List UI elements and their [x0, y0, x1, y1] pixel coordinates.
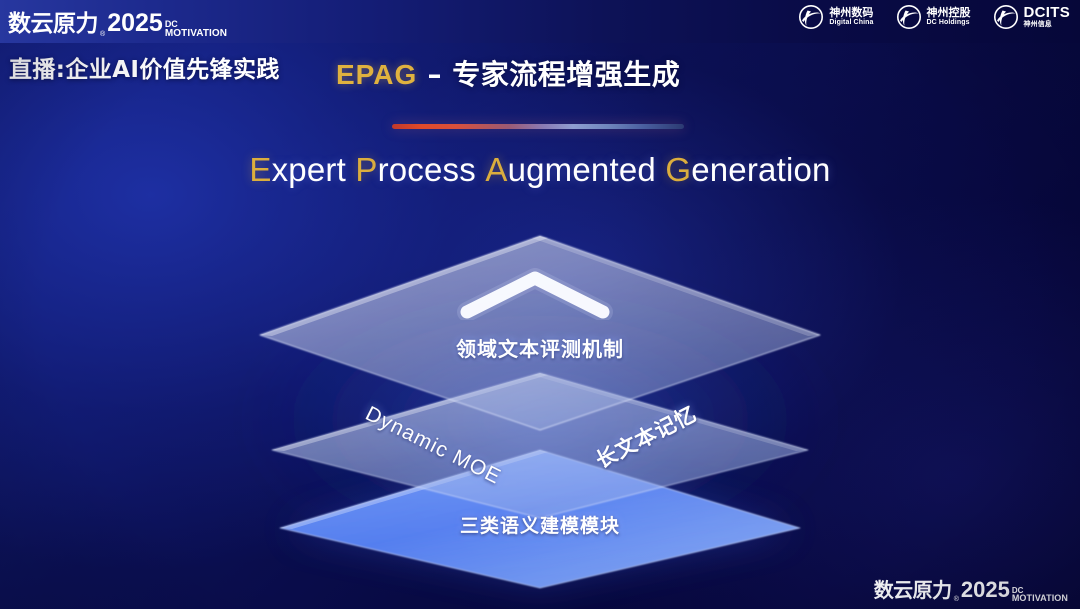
brand-logo-motivation: MOTIVATION [165, 29, 227, 39]
subtitle-word-1-cap: P [355, 151, 377, 188]
partner-name-en: Digital China [829, 19, 873, 26]
partner-name-cn: 神州控股 [927, 7, 971, 19]
subtitle-word-0-rest: xpert [272, 151, 346, 188]
partner-logo-dc-holdings: 神州控股 DC Holdings [896, 4, 971, 30]
slide-canvas: 数云原力® 2025 DC MOTIVATION 神州数码 Digital Ch… [0, 0, 1080, 609]
chevron-up-icon [455, 268, 615, 325]
watermark-logo: 数云原力® 2025 DC MOTIVATION [874, 574, 1068, 603]
swoosh-icon [993, 4, 1019, 30]
layer-label-bottom: 三类语义建模模块 [0, 511, 1080, 538]
partner-name-en: 神州信息 [1024, 21, 1071, 28]
swoosh-icon [798, 4, 824, 30]
subtitle-word-1-rest: rocess [378, 151, 476, 188]
partner-logo-dcits: DCITS 神州信息 [993, 4, 1071, 30]
subtitle-word-3-rest: eneration [691, 151, 830, 188]
partner-logo-digital-china: 神州数码 Digital China [798, 4, 873, 30]
watermark-registered-mark: ® [954, 596, 959, 603]
watermark-logo-cn: 数云原力 [874, 574, 952, 603]
gradient-divider [392, 124, 684, 129]
subtitle-word-3-cap: G [665, 151, 691, 188]
layer-label-top: 领域文本评测机制 [0, 333, 1080, 362]
page-title: EPAG – 专家流程增强生成 [336, 53, 680, 93]
watermark-logo-year: 2025 [961, 577, 1010, 603]
watermark-logo-motivation: MOTIVATION [1012, 594, 1068, 603]
partner-logo-group: 神州数码 Digital China 神州控股 DC Holdings [798, 4, 1070, 30]
subtitle-word-2-rest: ugmented [508, 151, 656, 188]
partner-name-en: DC Holdings [927, 19, 971, 26]
page-title-cn: 专家流程增强生成 [452, 58, 680, 91]
page-title-dash: – [417, 58, 452, 91]
page-subtitle: Expert Process Augmented Generation [0, 151, 1080, 189]
subtitle-word-0-cap: E [249, 151, 271, 188]
live-stream-label: 直播:企业AI价值先锋实践 [9, 50, 280, 84]
brand-logo-cn: 数云原力 [8, 4, 98, 38]
brand-logo-year: 2025 [107, 9, 163, 38]
brand-logo: 数云原力® 2025 DC MOTIVATION [8, 4, 227, 38]
brand-logo-registered-mark: ® [100, 31, 105, 38]
partner-name-cn: DCITS [1024, 5, 1071, 21]
partner-name-cn: 神州数码 [829, 7, 873, 19]
swoosh-icon [896, 4, 922, 30]
subtitle-word-2-cap: A [485, 151, 507, 188]
page-title-acronym: EPAG [336, 59, 417, 90]
